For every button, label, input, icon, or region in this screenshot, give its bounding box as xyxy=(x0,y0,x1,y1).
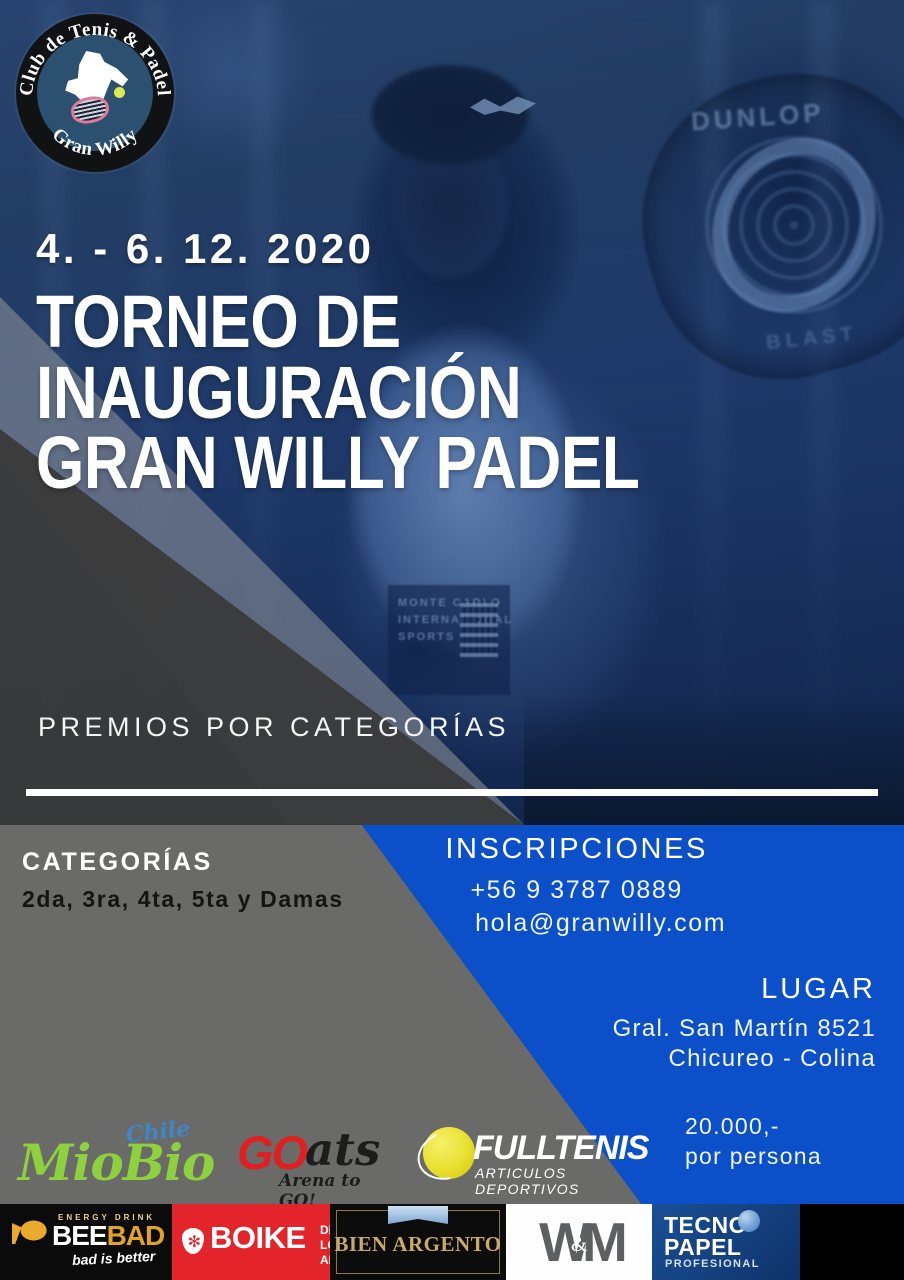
price-unit: por persona xyxy=(685,1143,822,1170)
title-line-3: GRAN WILLY PADEL xyxy=(36,428,742,498)
boike-sub: DE LOS ANDES xyxy=(320,1223,330,1268)
strip-blank-cell xyxy=(800,1204,904,1280)
beebad-tagline: bad is better xyxy=(72,1248,156,1268)
club-logo-disc xyxy=(37,35,153,151)
categories-heading: CATEGORÍAS xyxy=(22,848,344,877)
fulltenis-name: FULLTENIS xyxy=(473,1129,648,1168)
drop-icon xyxy=(182,1228,204,1254)
tournament-poster: DUNLOP BLAST MONTE CARLO INTERNATIONAL S… xyxy=(0,0,904,1280)
sponsor-bien-argento: BIEN ARGENTO xyxy=(330,1204,506,1280)
sponsor-boike: BOIKE DE LOS ANDES xyxy=(172,1204,330,1280)
sponsor-miobio-logo: Chile MioBio xyxy=(18,1117,203,1195)
hero-right-shadow xyxy=(524,693,904,825)
sponsor-tecnopapel: TECNO PAPEL PROFESIONAL xyxy=(652,1204,800,1280)
beebad-name-a: BEE xyxy=(52,1220,107,1251)
venue-heading: LUGAR xyxy=(613,973,876,1006)
sponsor-logo-row: Chile MioBio GO ats Arena to GO! FULLTEN… xyxy=(0,1108,640,1204)
bien-argento-name: BIEN ARGENTO xyxy=(330,1232,506,1257)
ampersand-icon: & xyxy=(571,1232,587,1257)
club-logo-badge: Club de Tenis & Padel Gran Willy xyxy=(16,14,174,172)
tennis-ball-icon xyxy=(114,87,125,98)
event-date: 4. - 6. 12. 2020 xyxy=(36,226,876,271)
sponsor-strip: ENERGY DRINK BEEBAD bad is better BOIKE … xyxy=(0,1204,904,1280)
fulltenis-tagline: ARTICULOS DEPORTIVOS xyxy=(475,1165,628,1197)
categories-block: CATEGORÍAS 2da, 3ra, 4ta, 5ta y Damas xyxy=(22,848,344,913)
tecnopapel-dot-icon xyxy=(738,1210,760,1232)
divider-rule xyxy=(26,789,878,796)
venue-city: Chicureo - Colina xyxy=(613,1045,876,1073)
beebad-name-b: BAD xyxy=(107,1220,165,1251)
bee-icon xyxy=(12,1214,48,1244)
title-line-1: TORNEO DE xyxy=(36,287,742,357)
tennis-ball-icon xyxy=(423,1127,475,1179)
inscriptions-email[interactable]: hola@granwilly.com xyxy=(445,909,876,938)
sponsor-goats-logo: GO ats Arena to GO! xyxy=(237,1117,397,1195)
boike-sub-b: ANDES xyxy=(320,1253,330,1268)
hero-text-block: 4. - 6. 12. 2020 TORNEO DE INAUGURACIÓN … xyxy=(36,226,876,498)
miobio-name: MioBio xyxy=(18,1133,214,1192)
categories-list: 2da, 3ra, 4ta, 5ta y Damas xyxy=(22,886,344,913)
prizes-subtitle: PREMIOS POR CATEGORÍAS xyxy=(38,712,510,743)
racket-icon xyxy=(69,93,112,126)
inscriptions-block: INSCRIPCIONES +56 9 3787 0889 hola@granw… xyxy=(445,833,876,938)
sponsor-wm: WM & xyxy=(506,1204,652,1280)
venue-block: LUGAR Gral. San Martín 8521 Chicureo - C… xyxy=(613,973,876,1073)
tecnopapel-sub: PROFESIONAL xyxy=(665,1258,760,1270)
sponsor-beebad: ENERGY DRINK BEEBAD bad is better xyxy=(0,1204,172,1280)
inscriptions-phone[interactable]: +56 9 3787 0889 xyxy=(445,876,876,905)
sponsor-fulltenis-logo: FULLTENIS ARTICULOS DEPORTIVOS xyxy=(423,1121,628,1191)
event-title: TORNEO DE INAUGURACIÓN GRAN WILLY PADEL xyxy=(36,287,742,498)
price-amount: 20.000,- xyxy=(685,1113,822,1140)
title-line-2: INAUGURACIÓN xyxy=(36,358,742,428)
tecnopapel-name-b: PAPEL xyxy=(664,1234,741,1261)
venue-address: Gral. San Martín 8521 xyxy=(613,1015,876,1043)
price-block: 20.000,- por persona xyxy=(685,1113,822,1170)
goats-name-dark: ats xyxy=(305,1123,380,1176)
boike-name: BOIKE xyxy=(210,1220,306,1256)
boike-sub-a: DE LOS xyxy=(320,1223,330,1253)
inscriptions-heading: INSCRIPCIONES xyxy=(445,833,876,866)
